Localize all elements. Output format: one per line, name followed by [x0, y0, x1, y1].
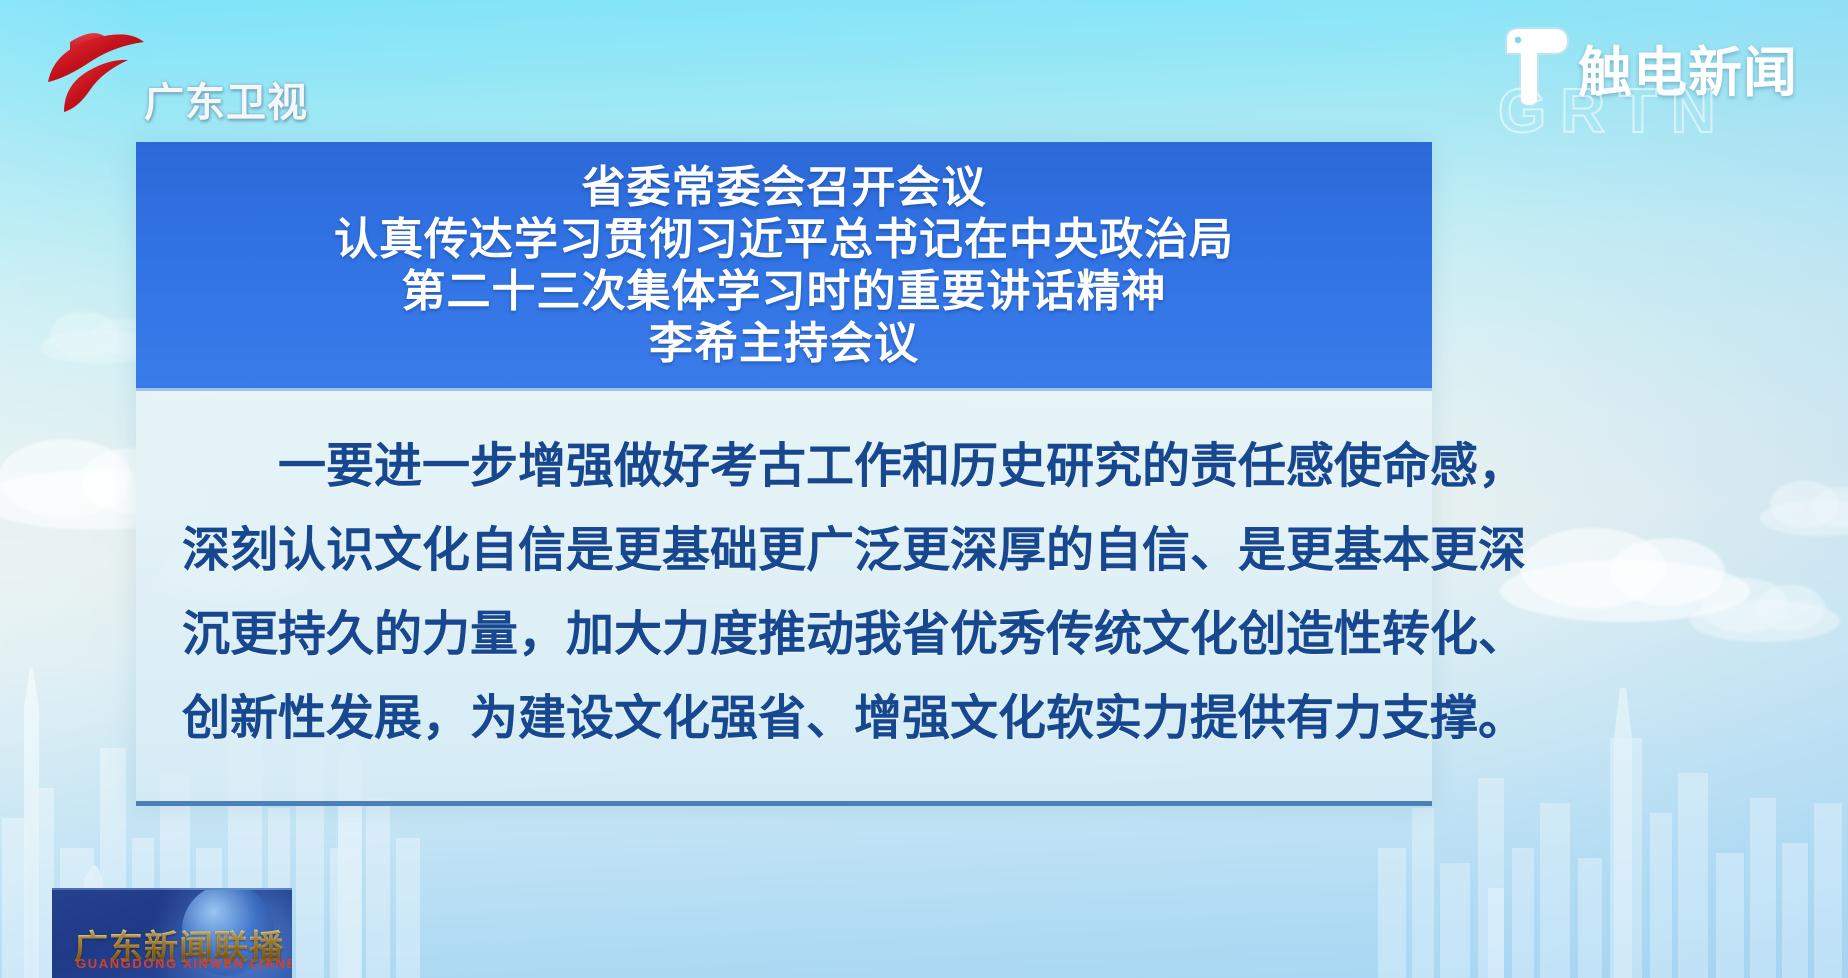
- body-line-2: 深刻认识文化自信是更基础更广泛更深厚的自信、是更基本更深: [182, 509, 1386, 593]
- left-light-band: [0, 0, 140, 978]
- body-text-panel: 一要进一步增强做好考古工作和历史研究的责任感使命感， 深刻认识文化自信是更基础更…: [136, 391, 1432, 806]
- guangdong-tv-flame-icon: [40, 24, 150, 116]
- headline-line-1: 省委常委会召开会议: [162, 162, 1406, 214]
- cloud-shape: [1760, 500, 1848, 536]
- body-line-3: 沉更持久的力量，加大力度推动我省优秀传统文化创造性转化、: [182, 593, 1386, 677]
- news-watermark: 触电新闻 GRTN: [1492, 14, 1832, 136]
- cloud-shape: [1690, 600, 1840, 642]
- body-line-1: 一要进一步增强做好考古工作和历史研究的责任感使命感，: [182, 425, 1386, 509]
- headline-line-4: 李希主持会议: [162, 318, 1406, 370]
- channel-logo-label: 广东卫视: [144, 70, 308, 128]
- headline-line-2: 认真传达学习贯彻习近平总书记在中央政治局: [162, 214, 1406, 266]
- cloud-shape: [1500, 560, 1750, 622]
- headline-banner: 省委常委会召开会议 认真传达学习贯彻习近平总书记在中央政治局 第二十三次集体学习…: [136, 142, 1432, 391]
- broadcast-screen: 广东卫视 触电新闻 GRTN 省委常委会召开会议 认真传达学习贯彻习近平总书记在…: [0, 0, 1848, 978]
- channel-logo: 广东卫视: [40, 24, 290, 120]
- program-logo-subtitle: GUANGDONG XINWEN LIANBO: [76, 956, 292, 971]
- program-logo: 广东新闻联播 GUANGDONG XINWEN LIANBO: [52, 888, 292, 978]
- body-line-4: 创新性发展，为建设文化强省、增强文化软实力提供有力支撑。: [182, 677, 1386, 761]
- headline-line-3: 第二十三次集体学习时的重要讲话精神: [162, 266, 1406, 318]
- news-card: 省委常委会召开会议 认真传达学习贯彻习近平总书记在中央政治局 第二十三次集体学习…: [136, 142, 1432, 806]
- watermark-sub-label: GRTN: [1498, 76, 1730, 147]
